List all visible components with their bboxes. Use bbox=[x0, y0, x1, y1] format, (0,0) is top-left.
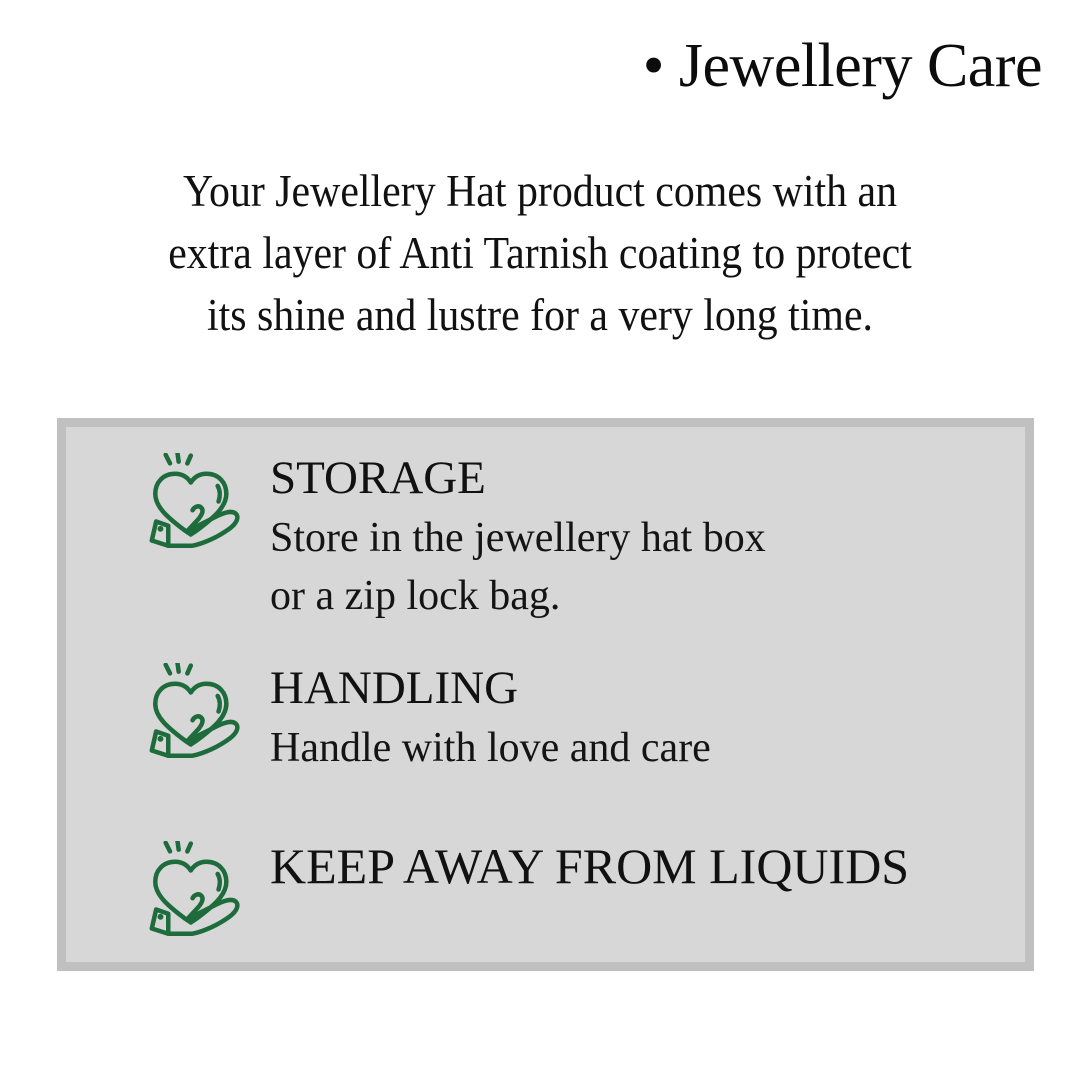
care-item-heading: HANDLING bbox=[270, 662, 518, 714]
care-item-text: HANDLING Handle with love and care bbox=[270, 659, 1015, 777]
care-instructions-list: STORAGE Store in the jewellery hat box o… bbox=[66, 427, 1025, 962]
care-item-storage: STORAGE Store in the jewellery hat box o… bbox=[144, 449, 1015, 625]
care-item-handling: HANDLING Handle with love and care bbox=[144, 659, 1015, 777]
care-item-description: Handle with love and care bbox=[270, 719, 1015, 777]
care-item-text: STORAGE Store in the jewellery hat box o… bbox=[270, 449, 1015, 625]
intro-line-1: Your Jewellery Hat product comes with an bbox=[95, 160, 984, 222]
jewellery-care-page: • Jewellery Care Your Jewellery Hat prod… bbox=[0, 0, 1080, 1080]
care-item-heading: STORAGE bbox=[270, 452, 486, 504]
care-item-text: KEEP AWAY FROM LIQUIDS bbox=[270, 837, 1015, 893]
heart-in-hand-icon bbox=[144, 841, 248, 945]
page-title: • Jewellery Care bbox=[342, 34, 1042, 100]
care-item-keep-away-from-liquids: KEEP AWAY FROM LIQUIDS bbox=[144, 837, 1015, 945]
intro-line-3: its shine and lustre for a very long tim… bbox=[95, 284, 984, 346]
heart-in-hand-icon bbox=[144, 663, 248, 767]
care-item-description-line: Store in the jewellery hat box bbox=[270, 509, 1015, 567]
care-item-description-line: Handle with love and care bbox=[270, 719, 1015, 777]
intro-line-2: extra layer of Anti Tarnish coating to p… bbox=[95, 222, 984, 284]
care-item-heading: KEEP AWAY FROM LIQUIDS bbox=[270, 838, 909, 894]
care-item-description: Store in the jewellery hat box or a zip … bbox=[270, 509, 1015, 625]
intro-paragraph: Your Jewellery Hat product comes with an… bbox=[95, 160, 984, 346]
care-instructions-panel: STORAGE Store in the jewellery hat box o… bbox=[57, 418, 1034, 971]
heart-in-hand-icon bbox=[144, 453, 248, 557]
care-item-description-line: or a zip lock bag. bbox=[270, 567, 1015, 625]
